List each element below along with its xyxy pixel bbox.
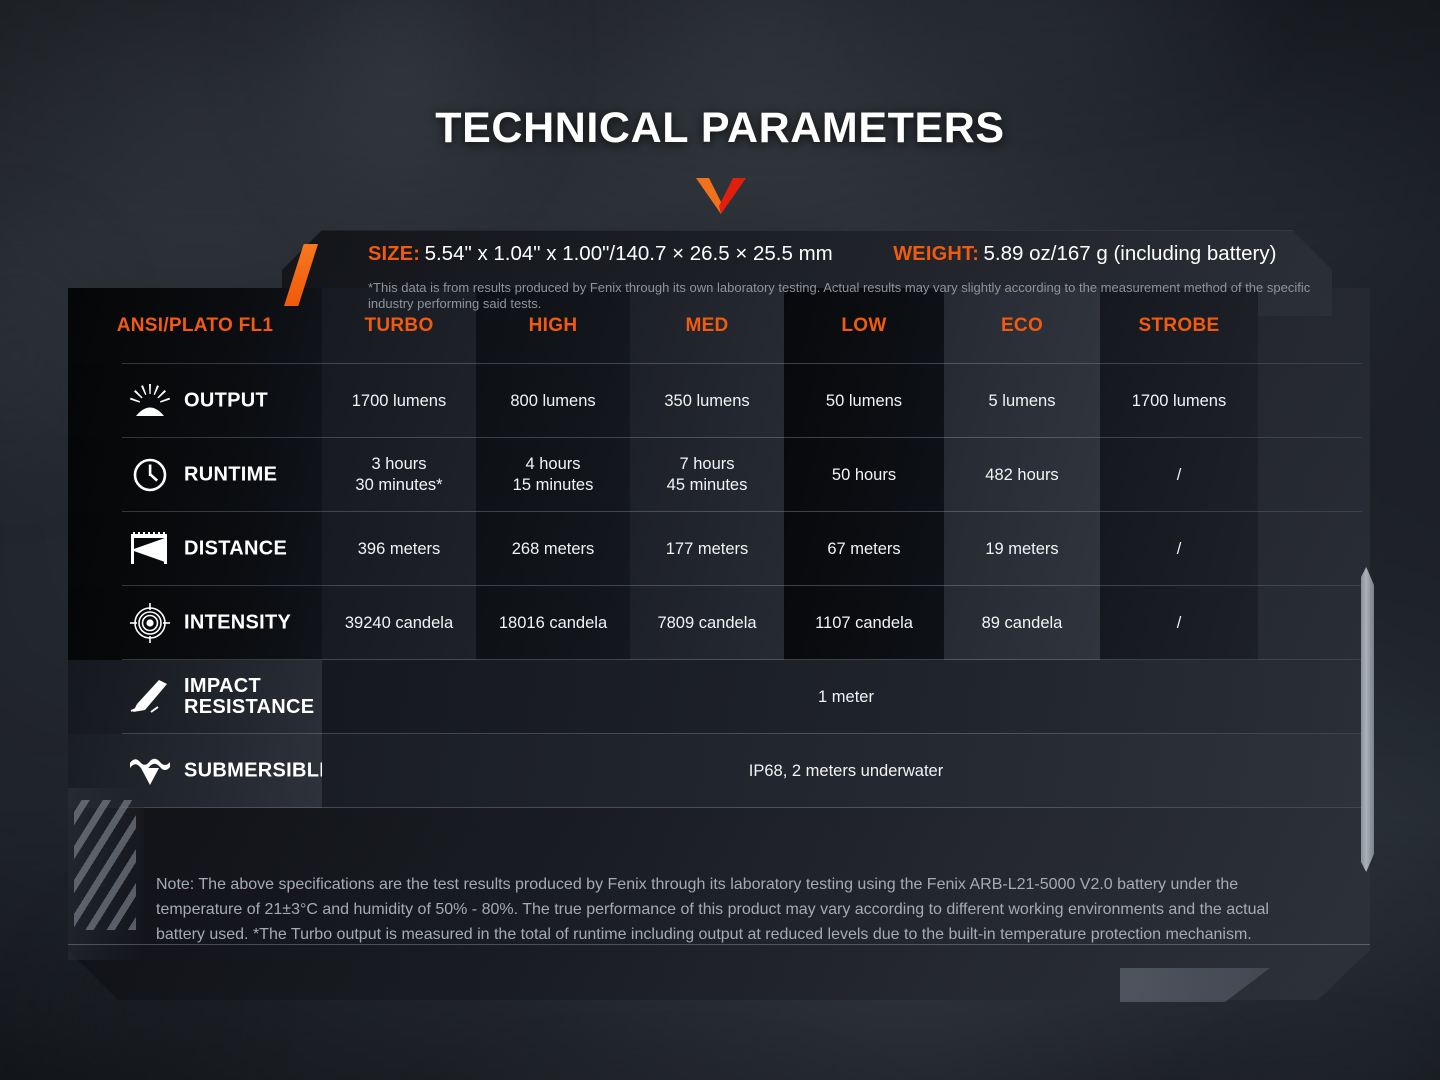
clock-icon [128, 455, 172, 495]
cell-high: 268 meters [476, 512, 630, 586]
footer-note: Note: The above specifications are the t… [156, 872, 1316, 947]
table-row: RUNTIME 3 hours 30 minutes* 4 hours 15 m… [68, 438, 1370, 512]
target-icon [128, 603, 172, 643]
cell-med: 350 lumens [630, 364, 784, 438]
spec-bar-line: SIZE: 5.54" x 1.04" x 1.00"/140.7 × 26.5… [368, 242, 1276, 266]
cell-submersible-value: IP68, 2 meters underwater [322, 734, 1370, 808]
row-label: INTENSITY [184, 612, 291, 635]
cell-high: 4 hours 15 minutes [476, 438, 630, 512]
table-row: SUBMERSIBLE IP68, 2 meters underwater [68, 734, 1370, 808]
table-row: DISTANCE 396 meters 268 meters 177 meter… [68, 512, 1370, 586]
cell-turbo: 3 hours 30 minutes* [322, 438, 476, 512]
cell-high: 18016 candela [476, 586, 630, 660]
cell-eco: 5 lumens [944, 364, 1100, 438]
row-divider [122, 807, 1362, 808]
right-accent-bar [1361, 567, 1374, 872]
table-row: IMPACT RESISTANCE 1 meter [68, 660, 1370, 734]
cell-low: 50 hours [784, 438, 944, 512]
cell-eco: 89 candela [944, 586, 1100, 660]
cell-low: 50 lumens [784, 364, 944, 438]
size-label: SIZE: [368, 243, 420, 265]
diagonal-stripes-decoration [74, 800, 136, 930]
cell-turbo: 39240 candela [322, 586, 476, 660]
row-label: RUNTIME [184, 464, 277, 487]
spec-disclaimer: *This data is from results produced by F… [368, 280, 1323, 312]
cell-med: 7 hours 45 minutes [630, 438, 784, 512]
row-label: SUBMERSIBLE [184, 760, 333, 783]
table-row: OUTPUT 1700 lumens 800 lumens 350 lumens… [68, 364, 1370, 438]
cell-med: 7809 candela [630, 586, 784, 660]
row-label: IMPACT RESISTANCE [184, 676, 314, 718]
row-label-cell: DISTANCE [68, 512, 322, 586]
row-label-cell: OUTPUT [68, 364, 322, 438]
weight-label: WEIGHT: [893, 243, 979, 265]
row-label-cell: RUNTIME [68, 438, 322, 512]
submersible-icon [128, 751, 172, 791]
cell-strobe: / [1100, 438, 1258, 512]
beam-ruler-icon [128, 529, 172, 569]
weight-value: 5.89 oz/167 g (including battery) [984, 242, 1277, 265]
cell-low: 67 meters [784, 512, 944, 586]
table-row: INTENSITY 39240 candela 18016 candela 78… [68, 586, 1370, 660]
cell-strobe: / [1100, 586, 1258, 660]
row-label: DISTANCE [184, 538, 287, 561]
page-title: TECHNICAL PARAMETERS [0, 104, 1440, 153]
cell-strobe: 1700 lumens [1100, 364, 1258, 438]
cell-high: 800 lumens [476, 364, 630, 438]
row-label: OUTPUT [184, 390, 268, 413]
sunburst-icon [128, 381, 172, 421]
cell-turbo: 396 meters [322, 512, 476, 586]
cell-eco: 482 hours [944, 438, 1100, 512]
impact-icon [128, 677, 172, 717]
cell-turbo: 1700 lumens [322, 364, 476, 438]
row-label-cell: INTENSITY [68, 586, 322, 660]
cell-med: 177 meters [630, 512, 784, 586]
cell-impact-value: 1 meter [322, 660, 1370, 734]
size-value: 5.54" x 1.04" x 1.00"/140.7 × 26.5 × 25.… [425, 242, 833, 265]
chevron-down-icon [696, 178, 746, 214]
cell-eco: 19 meters [944, 512, 1100, 586]
cell-low: 1107 candela [784, 586, 944, 660]
spec-bar-content: SIZE: 5.54" x 1.04" x 1.00"/140.7 × 26.5… [282, 230, 1332, 316]
row-label-cell: IMPACT RESISTANCE [68, 660, 322, 734]
cell-strobe: / [1100, 512, 1258, 586]
